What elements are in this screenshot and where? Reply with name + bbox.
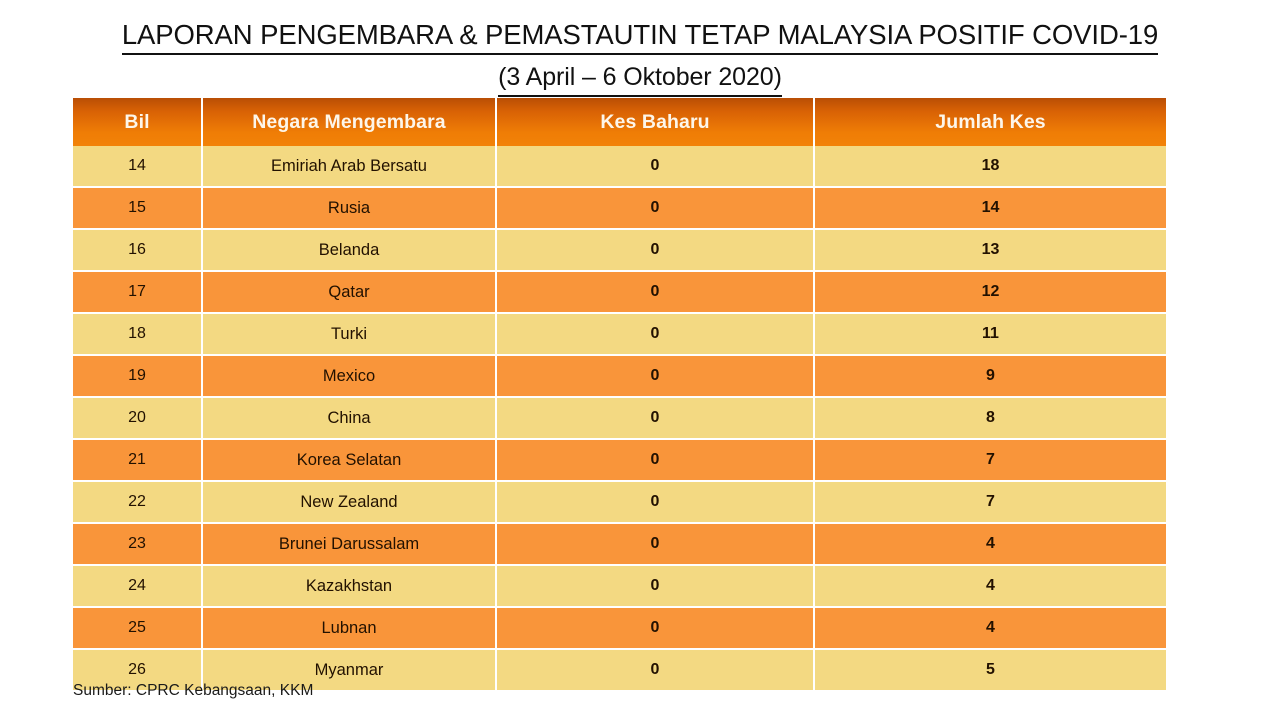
table-row: 25Lubnan04 [73,608,1166,650]
cell-new-cases: 0 [497,566,815,608]
table-row: 16Belanda013 [73,230,1166,272]
cell-total-cases: 5 [815,650,1166,690]
column-header-negara[interactable]: Negara Mengembara [203,98,497,146]
table-row: 23Brunei Darussalam04 [73,524,1166,566]
cell-country-name: Rusia [203,188,497,230]
cell-new-cases: 0 [497,524,815,566]
cell-bil: 18 [73,314,203,356]
cell-country-name: Turki [203,314,497,356]
cell-total-cases: 4 [815,608,1166,650]
cell-bil: 17 [73,272,203,314]
cell-total-cases: 12 [815,272,1166,314]
cell-bil: 19 [73,356,203,398]
cell-country-name: Brunei Darussalam [203,524,497,566]
table-row: 14Emiriah Arab Bersatu018 [73,146,1166,188]
cell-country-name: Kazakhstan [203,566,497,608]
column-header-jumlah-kes[interactable]: Jumlah Kes [815,98,1166,146]
cell-country-name: Lubnan [203,608,497,650]
cell-bil: 21 [73,440,203,482]
cell-country-name: Belanda [203,230,497,272]
cell-bil: 25 [73,608,203,650]
table-row: 15Rusia014 [73,188,1166,230]
cell-total-cases: 11 [815,314,1166,356]
title-line-main: LAPORAN PENGEMBARA & PEMASTAUTIN TETAP M… [122,18,1158,55]
cases-table-container: Bil Negara Mengembara Kes Baharu Jumlah … [73,98,1166,690]
cell-total-cases: 18 [815,146,1166,188]
cell-bil: 14 [73,146,203,188]
cell-country-name: China [203,398,497,440]
table-row: 18Turki011 [73,314,1166,356]
page-title: LAPORAN PENGEMBARA & PEMASTAUTIN TETAP M… [0,18,1280,97]
cell-new-cases: 0 [497,230,815,272]
table-header-row: Bil Negara Mengembara Kes Baharu Jumlah … [73,98,1166,146]
cell-new-cases: 0 [497,314,815,356]
table-row: 20China08 [73,398,1166,440]
cell-new-cases: 0 [497,608,815,650]
cell-new-cases: 0 [497,272,815,314]
cases-table: Bil Negara Mengembara Kes Baharu Jumlah … [73,98,1166,690]
cell-total-cases: 4 [815,524,1166,566]
cell-bil: 23 [73,524,203,566]
cell-country-name: Emiriah Arab Bersatu [203,146,497,188]
cell-country-name: Mexico [203,356,497,398]
cell-bil: 22 [73,482,203,524]
cell-new-cases: 0 [497,188,815,230]
table-row: 21Korea Selatan07 [73,440,1166,482]
table-body: 14Emiriah Arab Bersatu01815Rusia01416Bel… [73,146,1166,690]
cell-new-cases: 0 [497,650,815,690]
cell-total-cases: 8 [815,398,1166,440]
cell-country-name: New Zealand [203,482,497,524]
cell-new-cases: 0 [497,398,815,440]
cell-total-cases: 9 [815,356,1166,398]
cell-new-cases: 0 [497,482,815,524]
cell-new-cases: 0 [497,356,815,398]
cell-total-cases: 7 [815,482,1166,524]
cell-total-cases: 13 [815,230,1166,272]
table-header: Bil Negara Mengembara Kes Baharu Jumlah … [73,98,1166,146]
cell-new-cases: 0 [497,146,815,188]
cell-bil: 16 [73,230,203,272]
cell-total-cases: 7 [815,440,1166,482]
cell-total-cases: 4 [815,566,1166,608]
cell-bil: 20 [73,398,203,440]
table-row: 24Kazakhstan04 [73,566,1166,608]
cell-bil: 15 [73,188,203,230]
cell-country-name: Korea Selatan [203,440,497,482]
title-line-daterange: (3 April – 6 Oktober 2020) [498,60,782,97]
table-row: 19Mexico09 [73,356,1166,398]
table-row: 17Qatar012 [73,272,1166,314]
cell-new-cases: 0 [497,440,815,482]
source-note: Sumber: CPRC Kebangsaan, KKM [73,682,313,700]
cell-bil: 24 [73,566,203,608]
cell-country-name: Qatar [203,272,497,314]
cell-total-cases: 14 [815,188,1166,230]
slide-root: LAPORAN PENGEMBARA & PEMASTAUTIN TETAP M… [0,0,1280,720]
column-header-bil[interactable]: Bil [73,98,203,146]
column-header-kes-baharu[interactable]: Kes Baharu [497,98,815,146]
table-row: 22New Zealand07 [73,482,1166,524]
